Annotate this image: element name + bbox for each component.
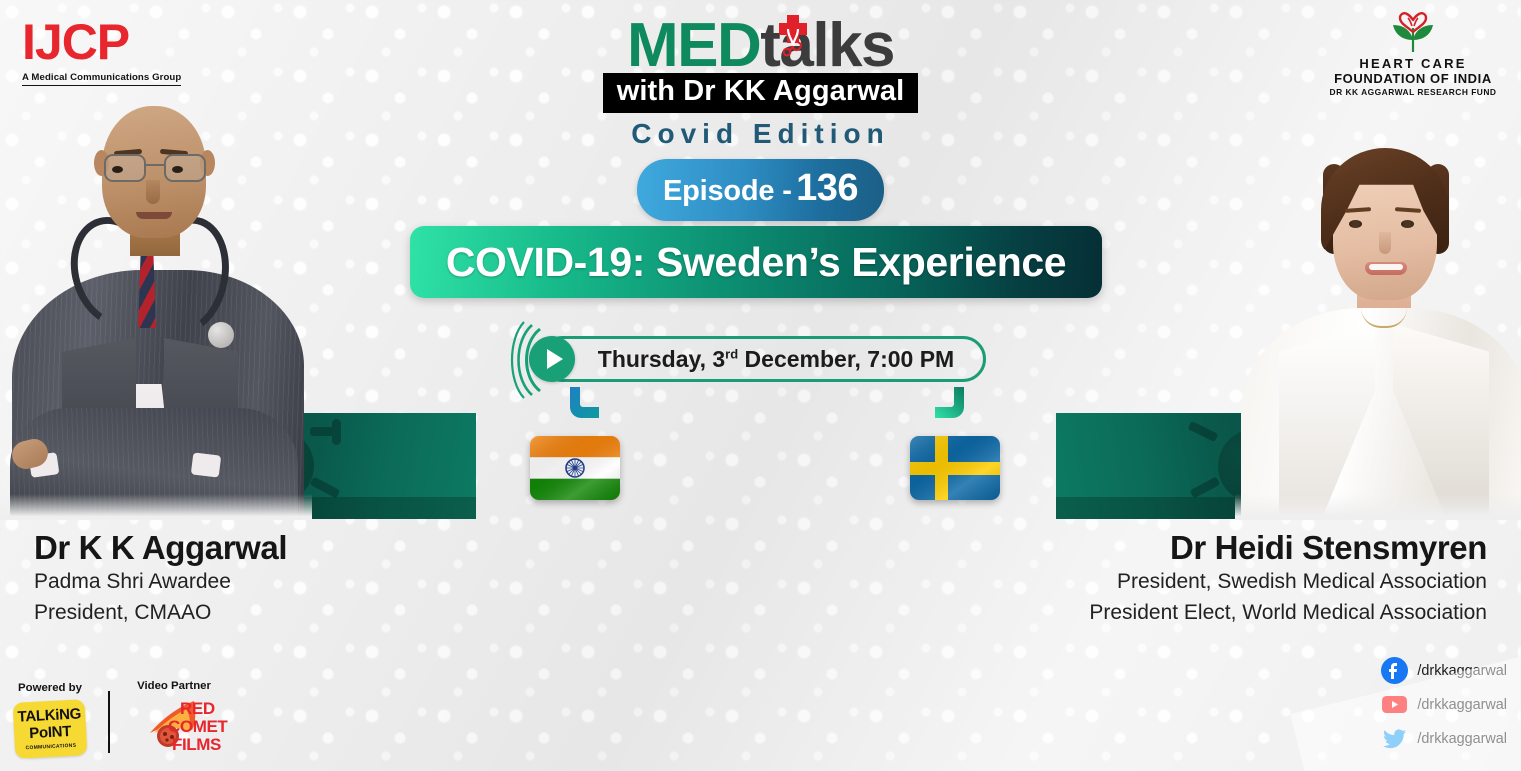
powered-by-block: Powered by TALKiNG PoINT COMMUNICATIONS	[14, 682, 86, 757]
session-title: COVID-19: Sweden’s Experience	[446, 239, 1066, 286]
red-comet-line-1: RED	[180, 701, 215, 717]
video-partner-label: Video Partner	[132, 680, 216, 692]
red-comet-logo: RED COMET FILMS	[132, 699, 216, 757]
speaker-role-2: President Elect, World Medical Associati…	[1089, 598, 1487, 629]
talking-point-line-1: TALKiNG	[17, 707, 81, 725]
talking-point-logo: TALKiNG PoINT COMMUNICATIONS	[13, 699, 88, 759]
schedule-pill: Thursday, 3rd December, 7:00 PM	[540, 336, 986, 382]
medtalks-logo: MEDtalks	[627, 16, 894, 76]
speaker-name: Dr K K Aggarwal	[34, 530, 287, 567]
sweden-flag	[910, 436, 1000, 500]
episode-number: 136	[796, 167, 858, 209]
red-comet-line-3: FILMS	[172, 737, 221, 753]
india-flag	[530, 436, 620, 500]
edition-label: Covid Edition	[0, 118, 1521, 150]
powered-by-label: Powered by	[14, 682, 86, 694]
episode-badge: Episode - 136	[637, 159, 884, 221]
corner-accent-right-icon	[932, 386, 968, 420]
speaker-name: Dr Heidi Stensmyren	[1089, 530, 1487, 567]
speaker-role-2: President, CMAAO	[34, 598, 287, 629]
medical-cross-stethoscope-icon	[774, 13, 812, 57]
facebook-icon[interactable]	[1381, 657, 1408, 684]
promo-poster: IJCP A Medical Communications Group HEAR…	[0, 0, 1521, 771]
speaker-role-1: President, Swedish Medical Association	[1089, 567, 1487, 598]
schedule-text: Thursday, 3rd December, 7:00 PM	[543, 346, 983, 373]
talking-point-line-3: COMMUNICATIONS	[25, 742, 76, 751]
speaker-caption-right: Dr Heidi Stensmyren President, Swedish M…	[1089, 530, 1487, 628]
speaker-role-1: Padma Shri Awardee	[34, 567, 287, 598]
episode-label: Episode -	[663, 175, 792, 207]
speaker-caption-left: Dr K K Aggarwal Padma Shri Awardee Presi…	[34, 530, 287, 628]
talking-point-line-2: PoINT	[29, 724, 72, 743]
corner-accent-left-icon	[566, 386, 602, 420]
footer-divider	[108, 691, 110, 753]
video-partner-block: Video Partner RED COMET FILMS	[132, 680, 216, 757]
footer-partners: Powered by TALKiNG PoINT COMMUNICATIONS …	[14, 680, 216, 757]
med-wordmark: MED	[627, 11, 760, 80]
session-title-banner: COVID-19: Sweden’s Experience	[410, 226, 1102, 298]
center-logo-block: MEDtalks with Dr KK Aggarwal Covid Editi…	[0, 16, 1521, 221]
play-button-icon[interactable]	[529, 336, 575, 382]
red-comet-line-2: COMET	[168, 719, 227, 735]
